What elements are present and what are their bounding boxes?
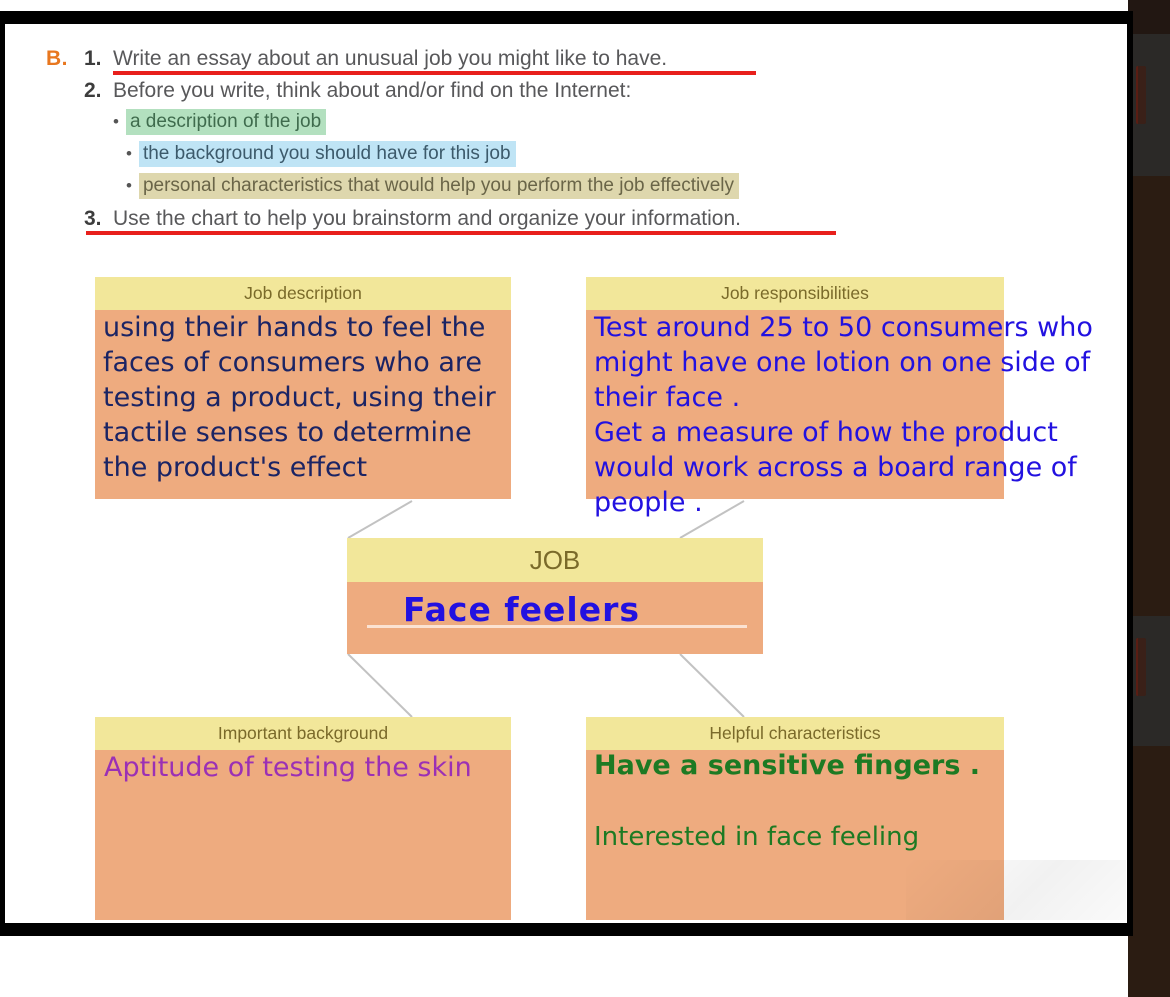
answer-important-background[interactable]: Aptitude of testing the skin (104, 750, 516, 785)
screen-root: B. 1. Write an essay about an unusual jo… (0, 0, 1170, 997)
chrome-panel-2[interactable] (1128, 176, 1170, 616)
bullet-text-1: a description of the job (126, 109, 326, 135)
instruction-text-1: Write an essay about an unusual job you … (113, 47, 667, 71)
section-marker-b: B. (46, 47, 68, 71)
instruction-text-2: Before you write, think about and/or fin… (113, 79, 631, 103)
chrome-panel-4[interactable] (1128, 746, 1170, 997)
chrome-panel-3[interactable] (1128, 616, 1170, 746)
box-header-job-center: JOB (347, 538, 763, 582)
bullet-dot-icon-3: • (126, 176, 132, 195)
instruction-number-2: 2. (84, 79, 102, 103)
bullet-item-1: •a description of the job (113, 111, 326, 133)
app-chrome-right (1128, 0, 1170, 997)
bullet-item-3: •personal characteristics that would hel… (126, 175, 739, 197)
instruction-number-1: 1. (84, 47, 102, 71)
box-header-important-background: Important background (95, 717, 511, 750)
worksheet-slide: B. 1. Write an essay about an unusual jo… (8, 27, 1126, 920)
box-header-helpful-characteristics: Helpful characteristics (586, 717, 1004, 750)
chrome-panel-1[interactable] (1128, 34, 1170, 176)
answer-job-description[interactable]: using their hands to feel the faces of c… (103, 310, 519, 485)
box-helpful-characteristics[interactable]: Helpful characteristics (586, 717, 1004, 920)
bullet-text-2: the background you should have for this … (139, 141, 516, 167)
bullet-dot-icon-1: • (113, 112, 119, 131)
answer-helpful-characteristics-line1[interactable]: Have a sensitive fingers . (594, 749, 1006, 783)
chrome-notch-1[interactable] (1136, 66, 1146, 124)
instruction-underline-1 (113, 71, 756, 75)
bullet-item-2: •the background you should have for this… (126, 143, 516, 165)
instruction-number-3: 3. (84, 207, 102, 231)
instruction-underline-3 (86, 231, 836, 235)
box-header-job-responsibilities: Job responsibilities (586, 277, 1004, 310)
box-header-job-description: Job description (95, 277, 511, 310)
answer-job-responsibilities[interactable]: Test around 25 to 50 consumers who might… (594, 310, 1126, 520)
chrome-notch-2[interactable] (1136, 638, 1146, 696)
answer-helpful-characteristics-line2[interactable]: Interested in face feeling (594, 820, 1006, 854)
bullet-text-3: personal characteristics that would help… (139, 173, 739, 199)
answer-job-center[interactable]: Face feelers (403, 590, 803, 630)
bullet-dot-icon-2: • (126, 144, 132, 163)
instruction-text-3: Use the chart to help you brainstorm and… (113, 207, 741, 231)
box-important-background[interactable]: Important background (95, 717, 511, 920)
